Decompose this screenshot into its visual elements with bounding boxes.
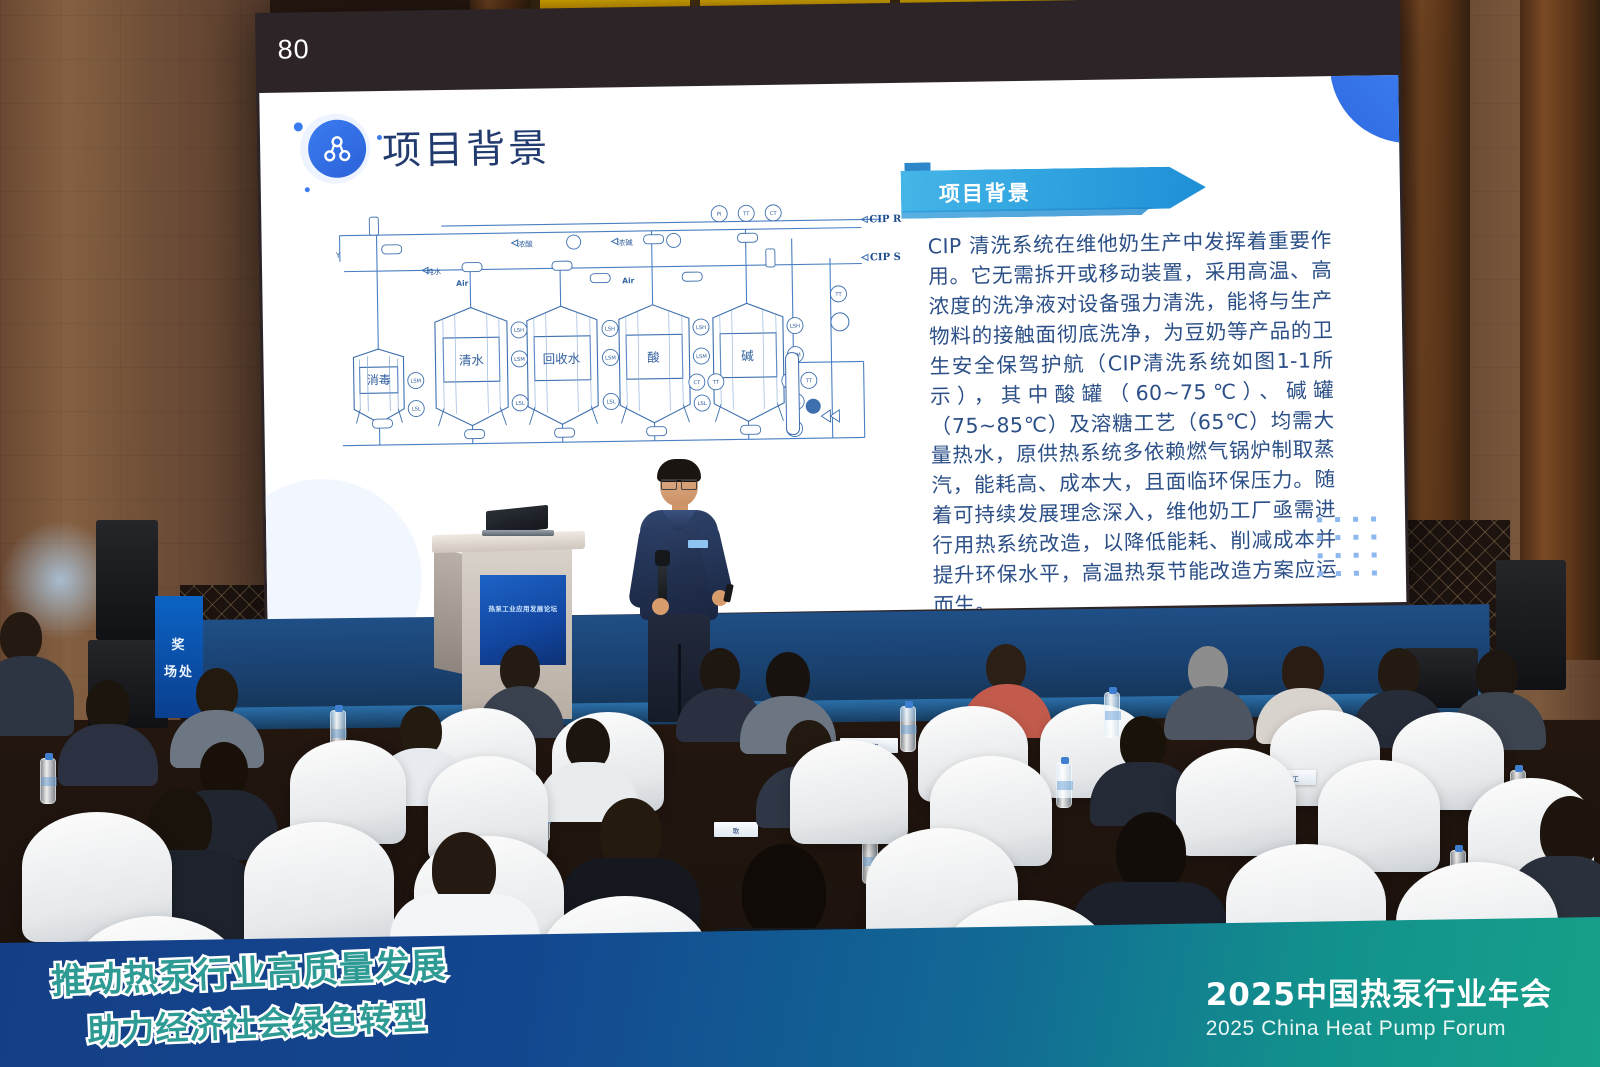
svg-text:回收水: 回收水 [543,351,581,367]
glasses-icon [661,479,697,487]
audience-shoulders [1164,686,1254,740]
svg-text:CT: CT [693,380,701,386]
svg-text:LSL: LSL [607,399,616,405]
svg-text:浓碱: 浓碱 [618,238,634,247]
audience-shoulders [58,724,158,786]
svg-text:CIP R: CIP R [869,214,902,226]
audience-head [1116,812,1186,892]
conference-photo: 80 [0,0,1600,1067]
svg-text:TT: TT [805,378,813,384]
svg-text:Y: Y [335,251,341,260]
event-title-cn: 2025中国热泵行业年会 [1206,969,1552,1014]
dot-grid-decoration [1317,516,1382,581]
svg-text:PI: PI [717,212,722,218]
svg-text:CIP S: CIP S [870,252,901,263]
svg-text:LSM: LSM [696,354,707,360]
svg-text:LSL: LSL [698,401,707,407]
slide-number: 80 [277,34,310,65]
ghost-circle-decoration [259,477,423,619]
water-bottle [900,706,916,752]
water-bottle [1104,692,1120,738]
name-card-text: 歌 [733,825,740,835]
svg-text:LSH: LSH [696,325,706,331]
water-bottle [40,758,56,804]
decor-dot-large [294,122,303,131]
svg-text:消毒: 消毒 [367,373,391,387]
microphone-head [655,550,670,566]
svg-text:酸: 酸 [647,350,660,365]
chair [1176,748,1296,856]
svg-text:LSL: LSL [412,406,421,412]
ribbon-label: 项目背景 [939,177,1031,208]
svg-text:CT: CT [770,211,778,217]
slide-body-text: CIP 清洗系统在维他奶生产中发挥着重要作用。它无需拆开或移动装置，采用高温、高… [928,226,1338,620]
audience-head [0,612,42,662]
svg-text:Air: Air [622,276,635,285]
presenter-shirt-logo [688,540,708,548]
svg-text:碱: 碱 [741,348,754,363]
water-bottle [1056,762,1072,808]
section-ribbon: 项目背景 [901,166,1207,213]
slide-title-row: 项目背景 [308,116,551,178]
svg-text:LSL: LSL [516,401,525,407]
page-title: 项目背景 [382,117,551,176]
svg-text:LSM: LSM [605,355,616,361]
svg-text:LSH: LSH [605,326,615,332]
svg-text:浓酸: 浓酸 [518,239,534,249]
chair [790,740,908,844]
event-banner: 推动热泵行业高质量发展 助力经济社会绿色转型 2025中国热泵行业年会 2025… [0,917,1600,1067]
laptop-keyboard [482,530,554,536]
svg-text:TT: TT [834,292,842,298]
event-title-en: 2025 China Heat Pump Forum [1206,1017,1552,1041]
svg-text:LSH: LSH [514,328,524,334]
svg-text:清水: 清水 [459,352,485,367]
banner-event-title: 2025中国热泵行业年会 2025 China Heat Pump Forum [1206,969,1552,1041]
decor-dot-small-bottom [305,187,310,192]
svg-text:LSM: LSM [410,378,421,384]
svg-text:TT: TT [742,211,750,217]
svg-text:LSH: LSH [790,323,800,329]
chair [244,822,394,954]
svg-text:TT: TT [712,380,720,386]
banner-slogan: 推动热泵行业高质量发展 助力经济社会绿色转型 [50,937,454,1055]
audience-head [742,844,826,940]
svg-text:LSM: LSM [514,357,525,363]
decor-dot-small-right [377,135,382,140]
projection-screen: 80 [255,0,1409,623]
svg-text:Air: Air [456,279,469,288]
name-card: 歌 [714,822,758,837]
corner-arc-decoration [1330,75,1406,144]
audience-shoulders [0,656,74,736]
cip-system-diagram: 消毒 [321,201,915,470]
title-badge [308,119,367,178]
laptop [482,508,554,538]
